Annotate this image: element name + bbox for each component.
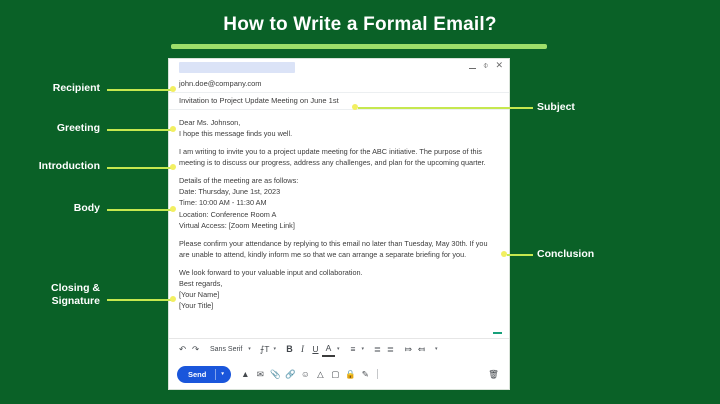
align-icon[interactable]: ≡ (346, 342, 359, 357)
send-button[interactable]: Send ▾ (177, 366, 231, 383)
leader-dot-closing-signature (170, 296, 176, 302)
formatting-toolbar: ↶ ↷ Sans Serif ▾ ⨍T ▾ B I U A ▾ ≡ ▾ ≣ ≣ … (169, 338, 509, 359)
trash-icon[interactable]: 🗑 (486, 367, 501, 382)
leader-line-body (107, 209, 171, 211)
send-options-chevron-down-icon[interactable]: ▾ (216, 371, 231, 377)
numbered-list-icon[interactable]: ≣ (371, 342, 384, 357)
indent-more-icon[interactable]: ⤆ (415, 342, 428, 357)
drive-icon[interactable]: △ (313, 367, 328, 382)
insert-link-icon[interactable]: 🔗 (283, 367, 298, 382)
align-chevron-down-icon[interactable]: ▾ (359, 346, 366, 352)
greeting-line-1: Dear Ms. Johnson, (179, 118, 240, 127)
leader-line-closing-signature (107, 299, 171, 301)
compose-window-header: ⌽ ✕ (169, 59, 509, 76)
annotation-label-closing-signature: Closing & Signature (10, 282, 100, 308)
details-date: Date: Thursday, June 1st, 2023 (179, 187, 280, 196)
image-icon[interactable]: ▢ (328, 367, 343, 382)
leader-line-recipient (107, 89, 171, 91)
conclusion-paragraph: Please confirm your attendance by replyi… (179, 238, 499, 260)
recipient-field[interactable]: john.doe@company.com (169, 76, 509, 93)
more-formatting-icon[interactable]: ▾ (433, 346, 440, 352)
introduction-paragraph: I am writing to invite you to a project … (179, 146, 499, 168)
italic-icon[interactable]: I (296, 342, 309, 357)
minimize-icon[interactable] (469, 68, 476, 69)
window-controls: ⌽ ✕ (469, 61, 503, 70)
email-body[interactable]: Dear Ms. Johnson, I hope this message fi… (169, 110, 509, 338)
formatting-icon[interactable]: ▲ (238, 367, 253, 382)
toolbar-separator (377, 369, 378, 379)
signature-name: [Your Name] (179, 290, 219, 299)
text-color-chevron-down-icon[interactable]: ▾ (335, 346, 342, 352)
undo-icon[interactable]: ↶ (176, 342, 189, 357)
leader-dot-greeting (170, 126, 176, 132)
details-virtual-access: Virtual Access: [Zoom Meeting Link] (179, 221, 295, 230)
greeting-line-2: I hope this message finds you well. (179, 129, 292, 138)
leader-line-subject (358, 107, 533, 109)
leader-line-greeting (107, 129, 171, 131)
redo-icon[interactable]: ↷ (189, 342, 202, 357)
signature-icon[interactable]: ✎ (358, 367, 373, 382)
greeting-paragraph: Dear Ms. Johnson, I hope this message fi… (179, 117, 499, 139)
send-button-label: Send (188, 370, 215, 379)
send-toolbar: Send ▾ ▲ ✉ 📎 🔗 ☺ △ ▢ 🔒 ✎ 🗑 (169, 359, 509, 389)
leader-line-conclusion (507, 254, 533, 256)
font-family-select[interactable]: Sans Serif (207, 342, 246, 357)
details-heading: Details of the meeting are as follows: (179, 176, 298, 185)
font-size-icon[interactable]: ⨍T (258, 342, 272, 357)
font-size-chevron-down-icon[interactable]: ▾ (271, 346, 278, 352)
title-underline (171, 44, 547, 49)
annotation-label-introduction: Introduction (6, 160, 100, 173)
annotation-label-greeting: Greeting (10, 122, 100, 135)
underline-icon[interactable]: U (309, 342, 322, 357)
attach-clip-icon[interactable]: 📎 (268, 367, 283, 382)
signoff-line: Best regards, (179, 279, 222, 288)
confidential-mode-icon[interactable]: 🔒 (343, 367, 358, 382)
leader-dot-recipient (170, 86, 176, 92)
page-title: How to Write a Formal Email? (0, 14, 720, 36)
emoji-icon[interactable]: ☺ (298, 367, 313, 382)
closing-signature-paragraph: We look forward to your valuable input a… (179, 267, 499, 311)
signature-title: [Your Title] (179, 301, 213, 310)
leader-line-introduction (107, 167, 171, 169)
annotation-label-conclusion: Conclusion (537, 248, 687, 261)
close-icon[interactable]: ✕ (495, 61, 503, 70)
bulleted-list-icon[interactable]: ≣ (384, 342, 397, 357)
expand-icon[interactable]: ⌽ (483, 61, 488, 70)
font-family-chevron-down-icon[interactable]: ▾ (246, 346, 253, 352)
compose-title-placeholder (179, 62, 295, 73)
annotation-label-body: Body (10, 202, 100, 215)
details-paragraph: Details of the meeting are as follows: D… (179, 175, 499, 230)
resize-grip[interactable] (493, 332, 502, 334)
annotation-label-recipient: Recipient (10, 82, 100, 95)
annotation-label-subject: Subject (537, 101, 687, 114)
closing-line: We look forward to your valuable input a… (179, 268, 363, 277)
details-time: Time: 10:00 AM - 11:30 AM (179, 198, 267, 207)
leader-dot-body (170, 206, 176, 212)
leader-dot-introduction (170, 164, 176, 170)
indent-less-icon[interactable]: ⤇ (402, 342, 415, 357)
bold-icon[interactable]: B (283, 342, 296, 357)
attach-file-icon[interactable]: ✉ (253, 367, 268, 382)
text-color-icon[interactable]: A (322, 342, 335, 357)
details-location: Location: Conference Room A (179, 210, 276, 219)
